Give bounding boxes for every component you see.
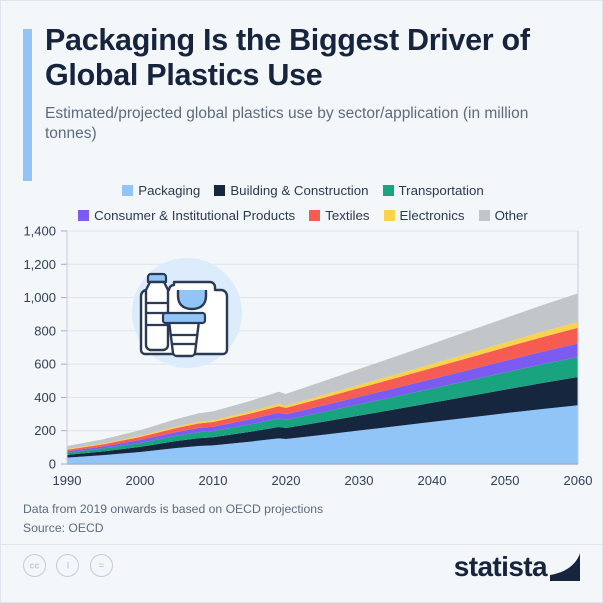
legend-swatch-icon (214, 185, 225, 196)
nd-icon[interactable]: = (90, 554, 113, 577)
legend-label: Building & Construction (230, 183, 368, 198)
page-title: Packaging Is the Biggest Driver of Globa… (23, 23, 583, 94)
cc-icon-label: cc (24, 561, 45, 570)
legend-swatch-icon (309, 210, 320, 221)
y-axis-label: 800 (34, 323, 56, 338)
legend-label: Packaging (138, 183, 200, 198)
cc-icon[interactable]: cc (23, 554, 46, 577)
footer-divider (1, 544, 602, 545)
x-axis-label: 2030 (345, 473, 374, 488)
plastics-illustration-icon (111, 255, 263, 372)
by-icon[interactable]: i (56, 554, 79, 577)
source-note: Source: OECD (23, 519, 323, 538)
x-axis-label: 2010 (199, 473, 228, 488)
x-axis-label: 2060 (564, 473, 593, 488)
y-axis-label: 1,400 (23, 224, 56, 239)
y-axis-label: 600 (34, 357, 56, 372)
infographic-card: Packaging Is the Biggest Driver of Globa… (0, 0, 603, 603)
y-axis-label: 400 (34, 390, 56, 405)
chart-area: 02004006008001,0001,2001,400199020002010… (1, 221, 603, 491)
brand-name: statista (454, 551, 547, 582)
statista-logo-icon (550, 553, 580, 581)
page-subtitle: Estimated/projected global plastics use … (23, 104, 583, 145)
x-axis-label: 2050 (491, 473, 520, 488)
y-axis-label: 200 (34, 423, 56, 438)
legend-item-transportation[interactable]: Transportation (383, 179, 484, 204)
legend-row: PackagingBuilding & ConstructionTranspor… (17, 179, 589, 204)
legend-swatch-icon (383, 185, 394, 196)
legend-label: Transportation (399, 183, 484, 198)
statista-brand[interactable]: statista (454, 551, 580, 583)
stacked-area-chart: 02004006008001,0001,2001,400199020002010… (1, 221, 603, 491)
legend-item-packaging[interactable]: Packaging (122, 179, 200, 204)
x-axis-label: 1990 (53, 473, 82, 488)
header: Packaging Is the Biggest Driver of Globa… (23, 23, 583, 145)
x-axis-label: 2040 (418, 473, 447, 488)
creative-commons-icons: cc i = (23, 554, 119, 577)
x-axis-label: 2000 (126, 473, 155, 488)
by-icon-label: i (57, 561, 78, 570)
y-axis-label: 0 (49, 457, 56, 472)
legend-swatch-icon (122, 185, 133, 196)
nd-icon-label: = (91, 561, 112, 570)
projection-note: Data from 2019 onwards is based on OECD … (23, 500, 323, 519)
legend-swatch-icon (78, 210, 89, 221)
accent-bar (23, 29, 32, 181)
legend-swatch-icon (384, 210, 395, 221)
chart-notes: Data from 2019 onwards is based on OECD … (23, 500, 323, 538)
y-axis-label: 1,200 (23, 257, 56, 272)
legend-swatch-icon (479, 210, 490, 221)
x-axis-label: 2020 (272, 473, 301, 488)
y-axis-label: 1,000 (23, 290, 56, 305)
legend-item-building-construction[interactable]: Building & Construction (214, 179, 368, 204)
